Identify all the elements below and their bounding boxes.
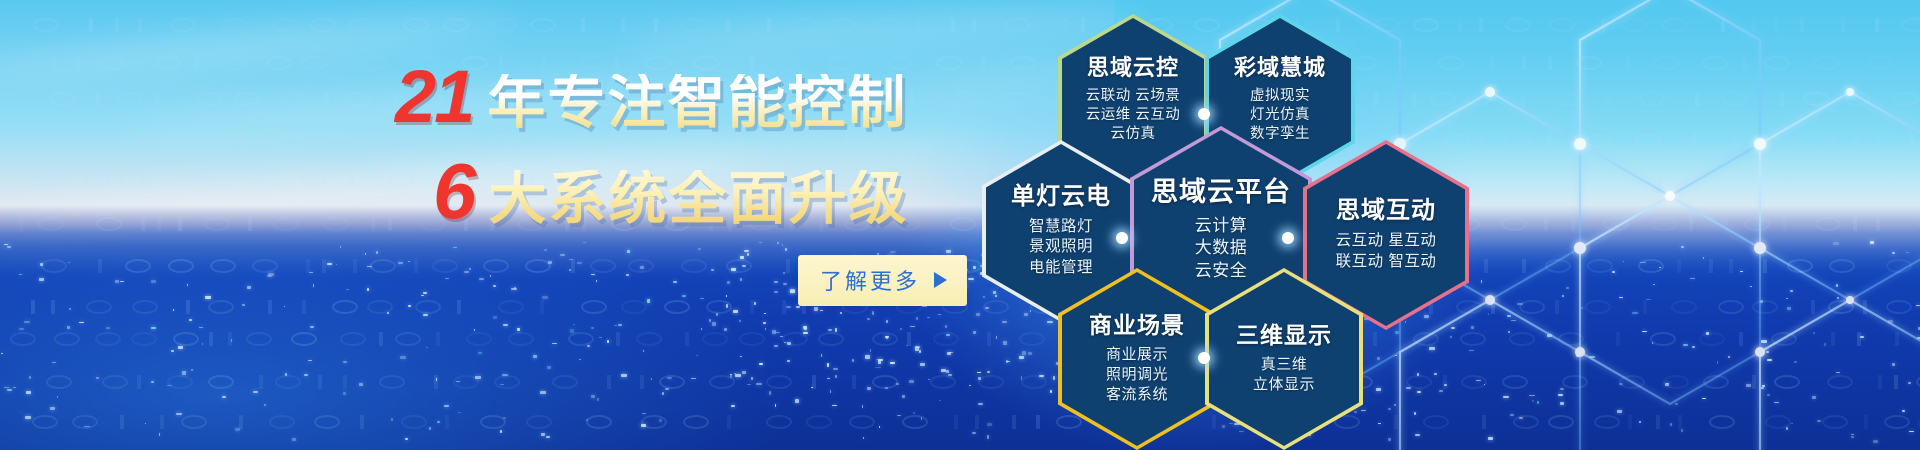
hex-line: 虚拟现实 (1250, 87, 1310, 106)
hex-line: 景观照明 (1029, 237, 1093, 257)
node-glow-dot (1198, 352, 1210, 364)
hexagon-cluster: 思域云控云联动 云场景云运维 云互动云仿真彩域慧城虚拟现实灯光仿真数字孪生单灯云… (1020, 0, 1580, 450)
node-glow-dot (1282, 232, 1294, 244)
hex-lines-siyu-hudong: 云互动 星互动联互动 智互动 (1336, 231, 1437, 272)
hex-line: 客流系统 (1106, 385, 1168, 405)
hex-lines-shangye-changjing: 商业展示照明调光客流系统 (1106, 345, 1168, 404)
hex-line: 立体显示 (1253, 375, 1315, 395)
hex-lines-sanwei-xianshi: 真三维立体显示 (1253, 355, 1315, 395)
headline-number-systems: 6 (433, 152, 474, 230)
node-glow-dot (1116, 232, 1128, 244)
node-glow-dot (1198, 108, 1210, 120)
hex-title-shangye-changjing: 商业场景 (1089, 313, 1185, 338)
hex-title-dandeng-yundian: 单灯云电 (1011, 184, 1111, 210)
hex-line: 电能管理 (1029, 258, 1093, 278)
hex-line: 云运维 云互动 (1086, 106, 1181, 125)
hex-line: 云互动 星互动 (1336, 231, 1437, 251)
hex-line: 云联动 云场景 (1086, 87, 1181, 106)
hex-lines-siyu-yunpingtai: 云计算大数据云安全 (1195, 215, 1248, 282)
hex-title-sanwei-xianshi: 三维显示 (1236, 323, 1332, 348)
promo-banner: 21 年专注智能控制 6 大系统全面升级 了解更多 思域云控云联动 云场景云运维… (0, 0, 1920, 450)
hex-line: 灯光仿真 (1250, 106, 1310, 125)
hex-line: 云仿真 (1086, 125, 1181, 144)
hex-title-siyu-hudong: 思域互动 (1336, 198, 1436, 224)
hex-line: 云安全 (1195, 260, 1248, 282)
hex-line: 联互动 智互动 (1336, 252, 1437, 272)
headline-text-line2: 大系统全面升级 (488, 170, 908, 228)
hex-title-siyu-yunpingtai: 思域云平台 (1151, 178, 1291, 208)
hex-line: 智慧路灯 (1029, 217, 1093, 237)
hex-line: 云计算 (1195, 215, 1248, 237)
hex-line: 照明调光 (1106, 365, 1168, 385)
hex-title-caiyu-huicheng: 彩域慧城 (1234, 56, 1326, 80)
hex-lines-caiyu-huicheng: 虚拟现实灯光仿真数字孪生 (1250, 87, 1310, 144)
headline-text-line1: 年专注智能控制 (487, 74, 907, 132)
hex-line: 真三维 (1253, 355, 1315, 375)
learn-more-label: 了解更多 (820, 264, 920, 296)
hex-lines-dandeng-yundian: 智慧路灯景观照明电能管理 (1029, 217, 1093, 278)
learn-more-button[interactable]: 了解更多 (798, 255, 967, 306)
hex-lines-siyu-yunkong: 云联动 云场景云运维 云互动云仿真 (1086, 87, 1181, 144)
hex-line: 数字孪生 (1250, 125, 1310, 144)
hex-title-siyu-yunkong: 思域云控 (1087, 56, 1179, 80)
play-triangle-icon (934, 272, 947, 288)
hex-line: 大数据 (1195, 237, 1248, 259)
headline-number-years: 21 (395, 60, 473, 134)
hex-line: 商业展示 (1106, 345, 1168, 365)
headline-block: 21 年专注智能控制 6 大系统全面升级 (395, 60, 995, 230)
